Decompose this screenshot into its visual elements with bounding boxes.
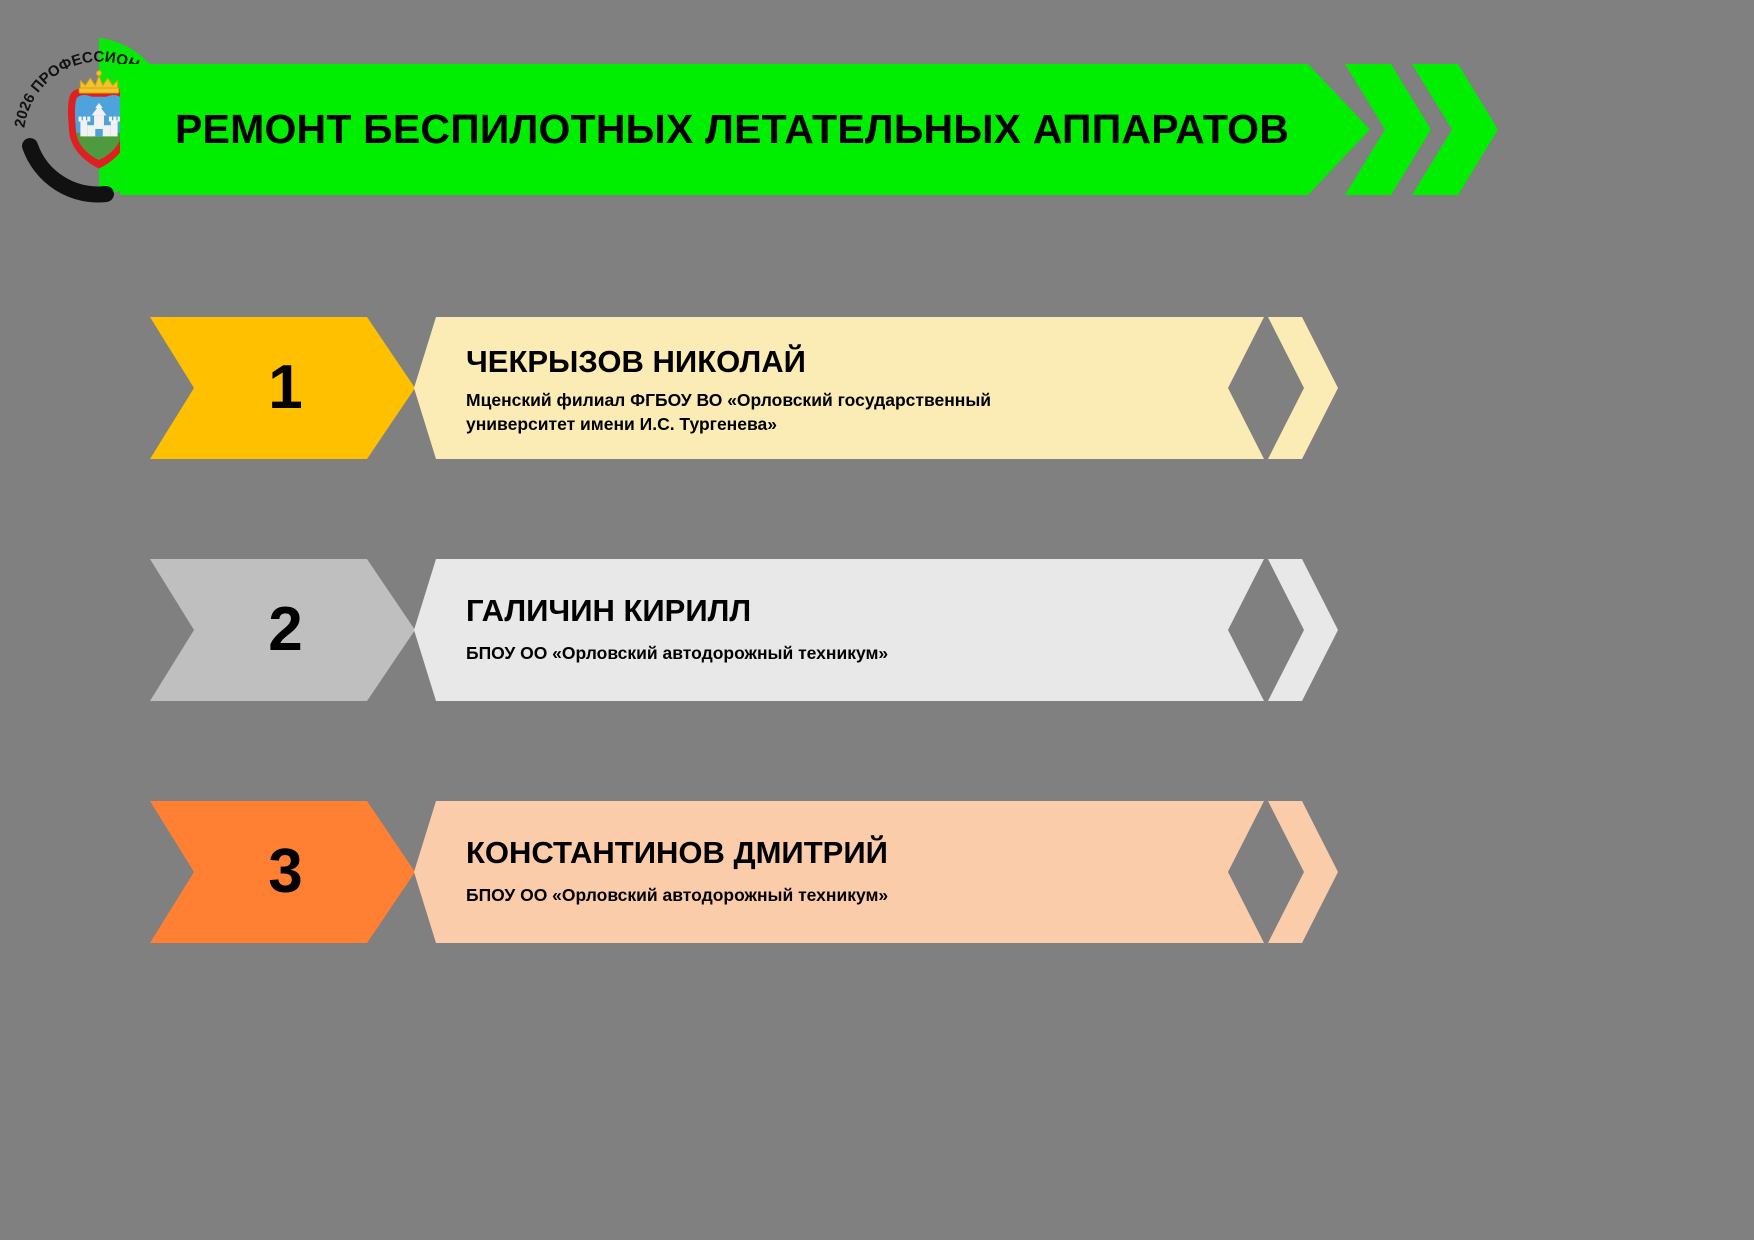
page-title: РЕМОНТ БЕСПИЛОТНЫХ ЛЕТАТЕЛЬНЫХ АППАРАТОВ (175, 109, 1289, 150)
row-chevron-1-icon (1268, 317, 1338, 459)
rank-number-2: 2 (262, 599, 302, 661)
header: РЕМОНТ БЕСПИЛОТНЫХ ЛЕТАТЕЛЬНЫХ АППАРАТОВ (0, 0, 1754, 230)
person-org-1: Мценский филиал ФГБОУ ВО «Орловский госу… (466, 389, 1086, 436)
ranking-row-3: 3 КОНСТАНТИНОВ ДМИТРИЙ БПОУ ОО «Орловски… (0, 801, 1754, 943)
content-panel-2: ГАЛИЧИН КИРИЛЛ БПОУ ОО «Орловский автодо… (414, 559, 1264, 701)
header-banner: РЕМОНТ БЕСПИЛОТНЫХ ЛЕТАТЕЛЬНЫХ АППАРАТОВ (120, 64, 1370, 195)
ranking-row-2: 2 ГАЛИЧИН КИРИЛЛ БПОУ ОО «Орловский авто… (0, 559, 1754, 701)
rank-number-3: 3 (262, 841, 302, 903)
content-panel-3: КОНСТАНТИНОВ ДМИТРИЙ БПОУ ОО «Орловский … (414, 801, 1264, 943)
rank-number-1: 1 (262, 357, 302, 419)
person-name-1: ЧЕКРЫЗОВ НИКОЛАЙ (466, 345, 1264, 379)
person-org-2: БПОУ ОО «Орловский автодорожный техникум… (466, 642, 1086, 666)
rank-badge-1: 1 (150, 317, 415, 459)
person-name-2: ГАЛИЧИН КИРИЛЛ (466, 594, 1264, 628)
rank-badge-2: 2 (150, 559, 415, 701)
person-org-3: БПОУ ОО «Орловский автодорожный техникум… (466, 884, 1086, 908)
row-chevron-3-icon (1268, 801, 1338, 943)
content-panel-1: ЧЕКРЫЗОВ НИКОЛАЙ Мценский филиал ФГБОУ В… (414, 317, 1264, 459)
rank-badge-3: 3 (150, 801, 415, 943)
person-name-3: КОНСТАНТИНОВ ДМИТРИЙ (466, 836, 1264, 870)
row-chevron-2-icon (1268, 559, 1338, 701)
ranking-row-1: 1 ЧЕКРЫЗОВ НИКОЛАЙ Мценский филиал ФГБОУ… (0, 317, 1754, 459)
